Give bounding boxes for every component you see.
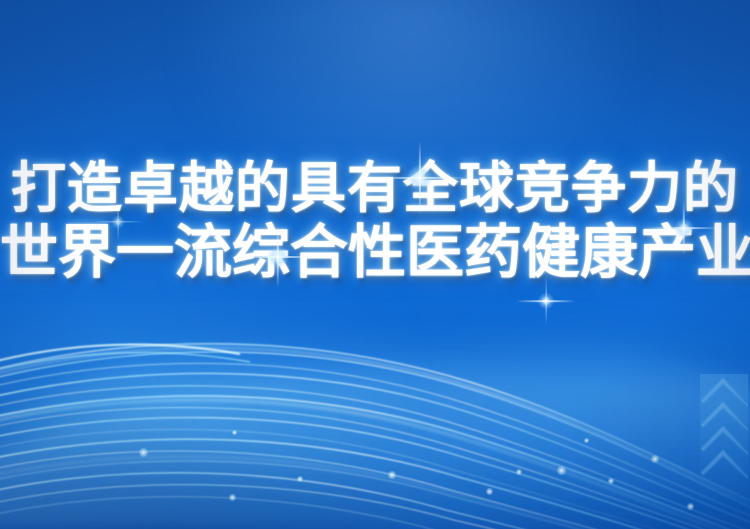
- lens-flare-sparkle: [523, 278, 569, 324]
- chevron-column-icon: [690, 368, 748, 508]
- light-speck: [297, 476, 303, 482]
- light-speck: [139, 448, 148, 457]
- slogan-line-2: 世界一流综合性医药健康产业集团: [0, 223, 750, 281]
- slogan-banner: 打造卓越的具有全球竞争力的 世界一流综合性医药健康产业集团: [0, 0, 750, 529]
- light-speck: [232, 430, 237, 435]
- background-glow-lower: [0, 330, 750, 529]
- light-speck: [557, 466, 566, 475]
- lens-flare-sparkle: [385, 143, 455, 213]
- wave-crest-band: [0, 300, 750, 529]
- light-filament-lines: [0, 280, 750, 529]
- edge-vignette: [0, 0, 750, 529]
- slogan-line-1: 打造卓越的具有全球竞争力的: [0, 160, 750, 215]
- light-speck: [388, 471, 396, 479]
- lens-flare-sparkle: [98, 202, 138, 242]
- slogan-text-block: 打造卓越的具有全球竞争力的 世界一流综合性医药健康产业集团: [0, 160, 750, 281]
- light-speck: [486, 488, 493, 495]
- light-speck: [516, 469, 522, 475]
- background-glow-right: [420, 300, 750, 500]
- light-speck: [687, 503, 694, 510]
- lens-flare-sparkle: [658, 202, 710, 254]
- light-speck: [608, 478, 614, 484]
- light-speck: [229, 494, 236, 501]
- lens-flare-sparkle: [248, 227, 308, 287]
- background-shade-bottom: [0, 430, 460, 529]
- light-speck: [651, 455, 659, 463]
- background-glow-left: [0, 250, 400, 510]
- background-glow-top: [180, 0, 640, 240]
- light-speck: [584, 438, 589, 443]
